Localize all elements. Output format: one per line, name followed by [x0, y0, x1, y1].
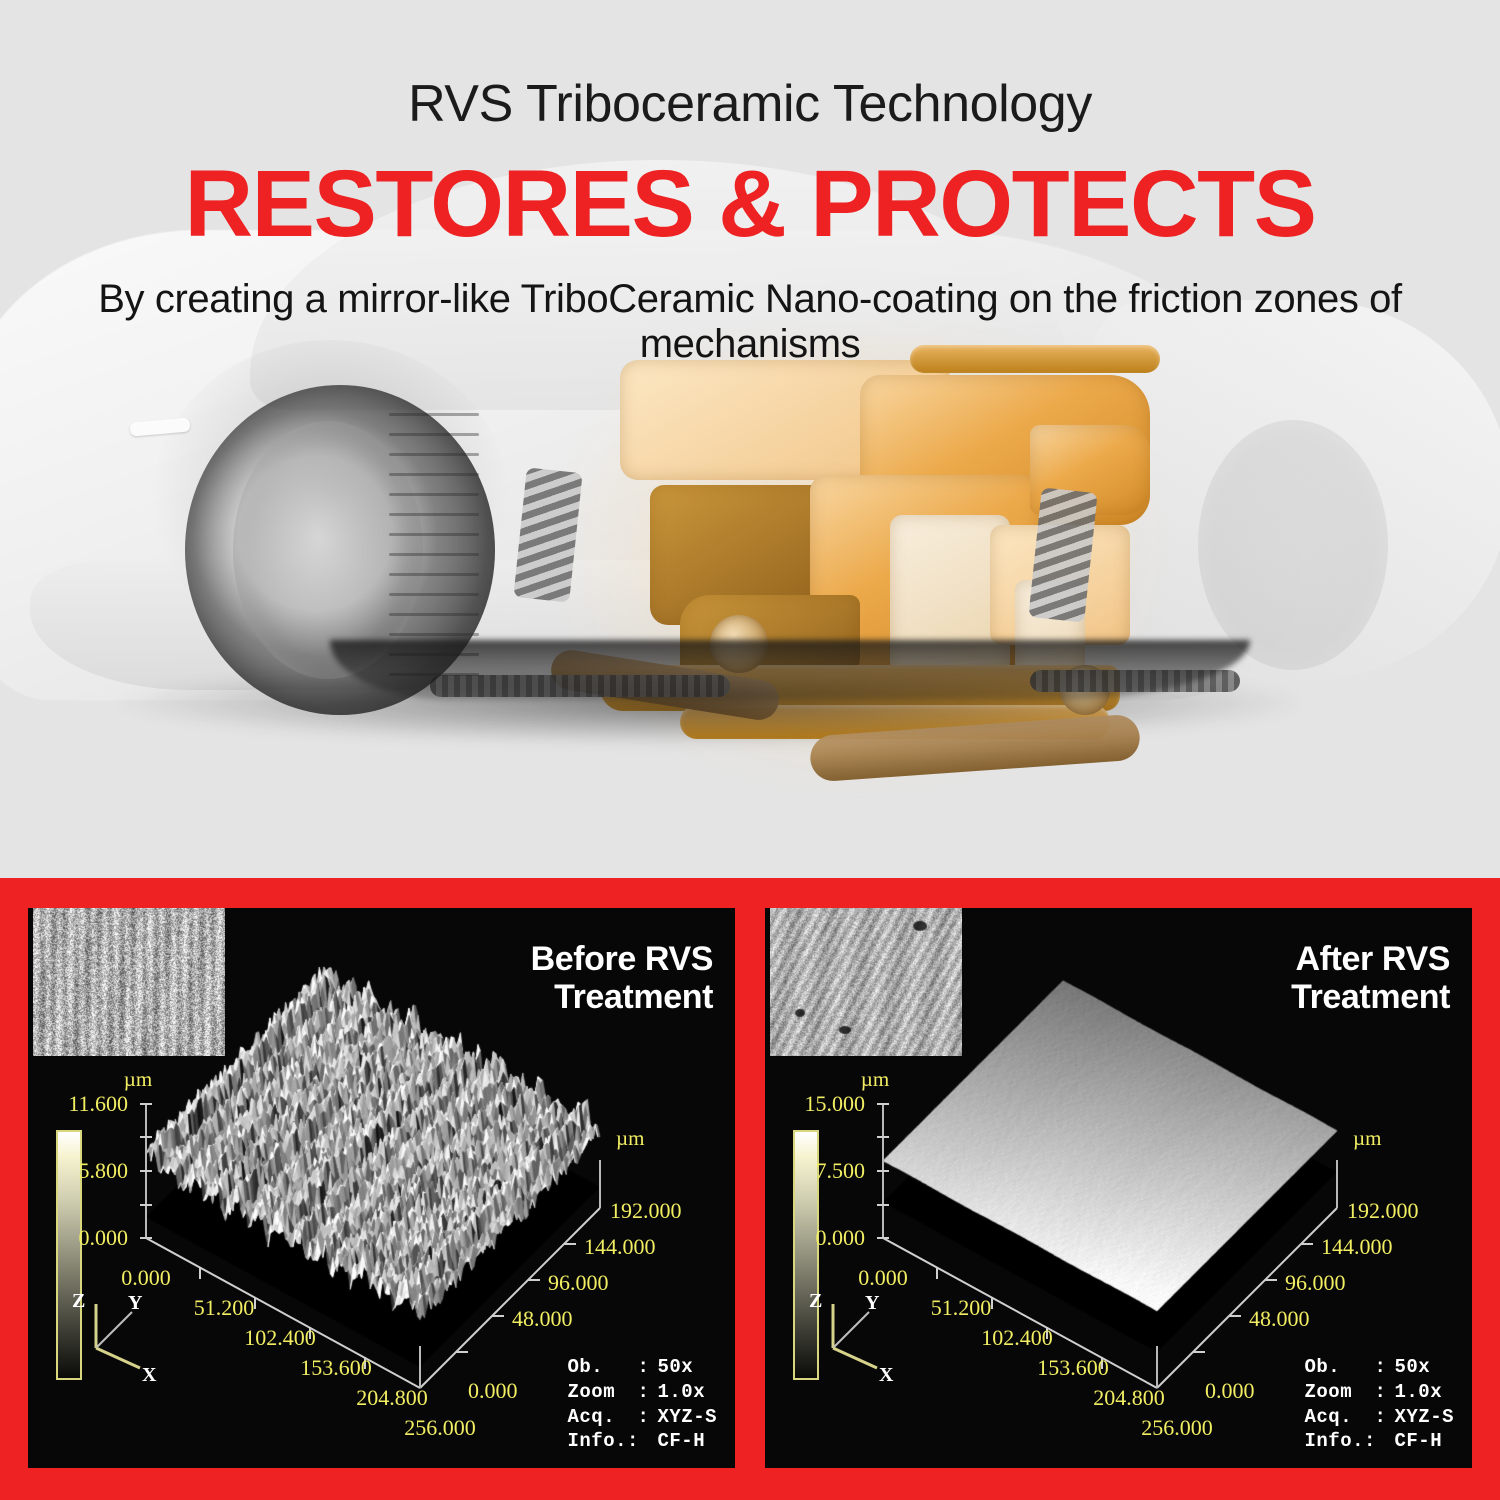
y-tick-0-before: 192.000: [610, 1198, 682, 1223]
x-tick-2-before: 102.400: [244, 1325, 316, 1350]
comparison-panels: Before RVS Treatment: [0, 878, 1500, 1500]
rear-wheel: [1198, 420, 1388, 670]
meta-sep-ob-before: :: [637, 1355, 657, 1380]
meta-key-info-after: Info.:: [1304, 1429, 1374, 1454]
hero-section: RVS Triboceramic Technology RESTORES & P…: [0, 0, 1500, 878]
y-unit-after: µm: [1353, 1126, 1381, 1150]
meta-key-zoom-before: Zoom: [567, 1380, 637, 1405]
axis-triad-after: Z Y X: [801, 1286, 911, 1386]
triad-y-before: Y: [128, 1292, 142, 1315]
meta-key-zoom-after: Zoom: [1304, 1380, 1374, 1405]
y-tick-1-before: 144.000: [584, 1234, 656, 1259]
x-tick-3-before: 153.600: [300, 1355, 372, 1380]
triad-x-after: X: [879, 1364, 893, 1387]
y-tick-2-before: 96.000: [548, 1270, 609, 1295]
z-tick-2-before: 0.000: [79, 1225, 129, 1250]
meta-key-acq-after: Acq.: [1304, 1405, 1374, 1430]
panel-before: Before RVS Treatment: [28, 908, 735, 1468]
meta-key-info-before: Info.:: [567, 1429, 637, 1454]
ground-shadow: [120, 675, 1300, 745]
metadata-after: Ob.:50x Zoom:1.0x Acq.:XYZ-S Info.:CF-H: [1304, 1355, 1454, 1454]
x-tick-1-after: 51.200: [931, 1295, 992, 1320]
z-tick-0-after: 15.000: [805, 1091, 866, 1116]
hero-headline: RESTORES & PROTECTS: [0, 130, 1500, 255]
meta-sep-acq-before: :: [637, 1405, 657, 1430]
y-tick-0-after: 192.000: [1347, 1198, 1419, 1223]
meta-val-ob-before: 50x: [657, 1355, 693, 1380]
y-tick-3-after: 48.000: [1249, 1306, 1310, 1331]
triad-y-after: Y: [865, 1292, 879, 1315]
meta-val-ob-after: 50x: [1394, 1355, 1430, 1380]
meta-sep-zoom-after: :: [1374, 1380, 1394, 1405]
x-tick-5-after: 256.000: [1141, 1415, 1213, 1440]
meta-val-acq-before: XYZ-S: [657, 1405, 717, 1430]
x-tick-3-after: 153.600: [1037, 1355, 1109, 1380]
meta-sep-acq-after: :: [1374, 1405, 1394, 1430]
z-tick-0-before: 11.600: [68, 1091, 128, 1116]
panel-after: After RVS Treatment: [765, 908, 1472, 1468]
meta-val-zoom-before: 1.0x: [657, 1380, 705, 1405]
triad-x-before: X: [142, 1364, 156, 1387]
comparison-section: Before RVS Treatment: [0, 878, 1500, 1500]
y-unit-before: µm: [616, 1126, 644, 1150]
x-tick-4-after: 204.800: [1093, 1385, 1165, 1410]
x-tick-4-before: 204.800: [356, 1385, 428, 1410]
meta-key-acq-before: Acq.: [567, 1405, 637, 1430]
y-tick-1-after: 144.000: [1321, 1234, 1393, 1259]
meta-val-info-after: CF-H: [1394, 1429, 1442, 1454]
y-tick-2-after: 96.000: [1285, 1270, 1346, 1295]
triad-z-after: Z: [809, 1290, 822, 1313]
z-unit-after: µm: [861, 1067, 889, 1091]
x-tick-1-before: 51.200: [194, 1295, 255, 1320]
hero-text-block: RVS Triboceramic Technology RESTORES & P…: [0, 0, 1500, 368]
y-tick-3-before: 48.000: [512, 1306, 573, 1331]
meta-key-ob-after: Ob.: [1304, 1355, 1374, 1380]
metadata-before: Ob.:50x Zoom:1.0x Acq.:XYZ-S Info.:CF-H: [567, 1355, 717, 1454]
x-tick-5-before: 256.000: [404, 1415, 476, 1440]
axis-triad-before: Z Y X: [64, 1286, 174, 1386]
meta-sep-zoom-before: :: [637, 1380, 657, 1405]
y-tick-4-before: 0.000: [468, 1378, 518, 1403]
z-unit-before: µm: [124, 1067, 152, 1091]
triad-z-before: Z: [72, 1290, 85, 1313]
y-tick-4-after: 0.000: [1205, 1378, 1255, 1403]
meta-val-acq-after: XYZ-S: [1394, 1405, 1454, 1430]
z-tick-1-before: 5.800: [79, 1158, 129, 1183]
hero-subline: By creating a mirror-like TriboCeramic N…: [85, 255, 1415, 368]
z-tick-1-after: 7.500: [816, 1158, 866, 1183]
hero-kicker: RVS Triboceramic Technology: [0, 0, 1500, 130]
meta-val-info-before: CF-H: [657, 1429, 705, 1454]
meta-key-ob-before: Ob.: [567, 1355, 637, 1380]
x-tick-2-after: 102.400: [981, 1325, 1053, 1350]
z-tick-2-after: 0.000: [816, 1225, 866, 1250]
meta-val-zoom-after: 1.0x: [1394, 1380, 1442, 1405]
meta-sep-ob-after: :: [1374, 1355, 1394, 1380]
